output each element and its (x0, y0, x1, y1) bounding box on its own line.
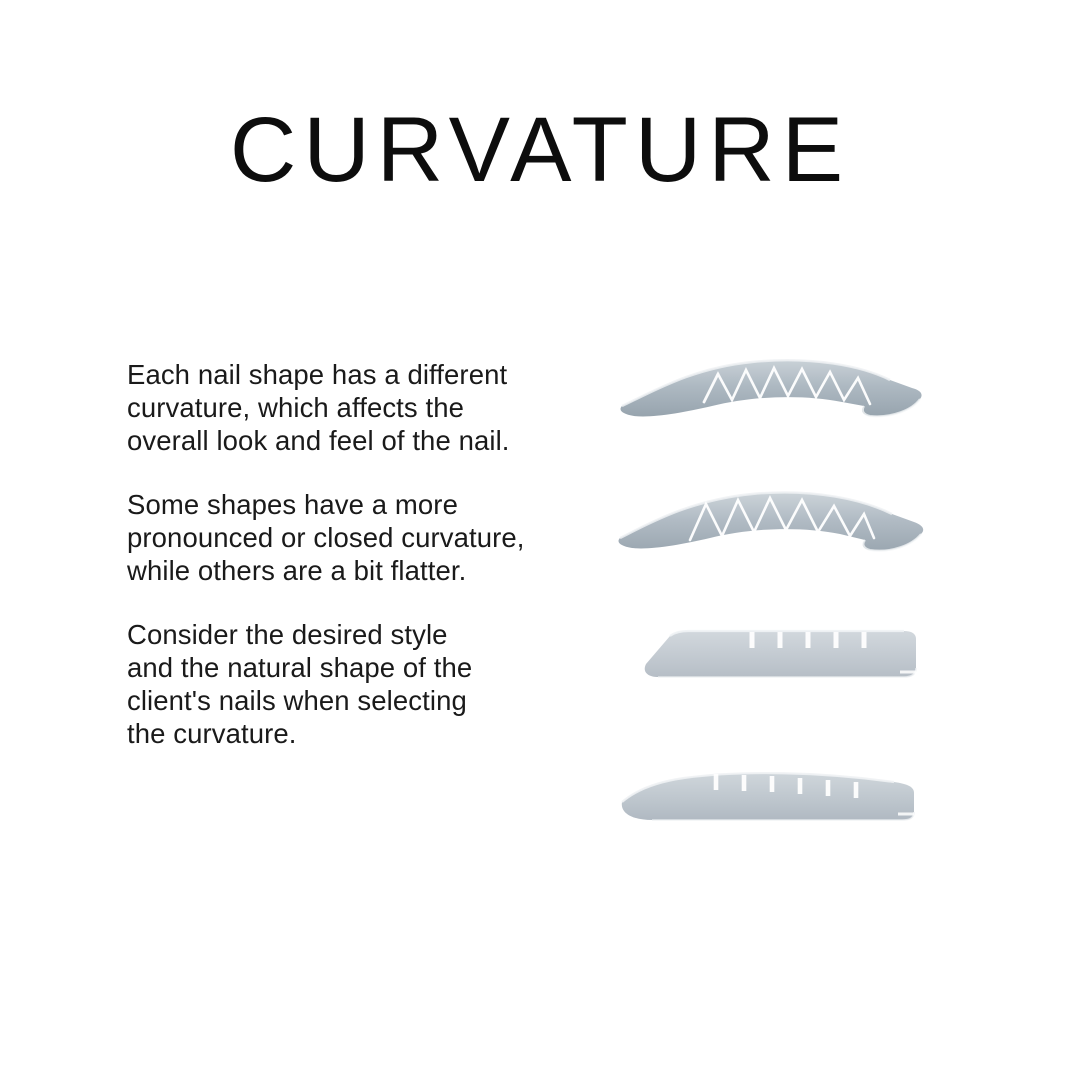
nail-form-flat-slab (612, 608, 952, 718)
paragraph-1: Each nail shape has a different curvatur… (127, 358, 597, 457)
nail-form-curved-pronounced (612, 344, 952, 454)
nail-form-curved-closed (612, 480, 952, 590)
page-title: CURVATURE (0, 104, 1080, 196)
nail-form-tapered-wedge (612, 752, 952, 862)
paragraph-2: Some shapes have a more pronounced or cl… (127, 488, 597, 587)
form-body-3 (645, 631, 916, 677)
form-body-2 (619, 492, 924, 550)
nail-form-illustrations (612, 330, 972, 850)
slide-canvas: CURVATURE Each nail shape has a differen… (0, 0, 1080, 1080)
form-body-4 (622, 773, 914, 820)
paragraph-3: Consider the desired style and the natur… (127, 618, 597, 750)
body-copy: Each nail shape has a different curvatur… (127, 358, 597, 750)
form-body-1 (621, 360, 922, 416)
